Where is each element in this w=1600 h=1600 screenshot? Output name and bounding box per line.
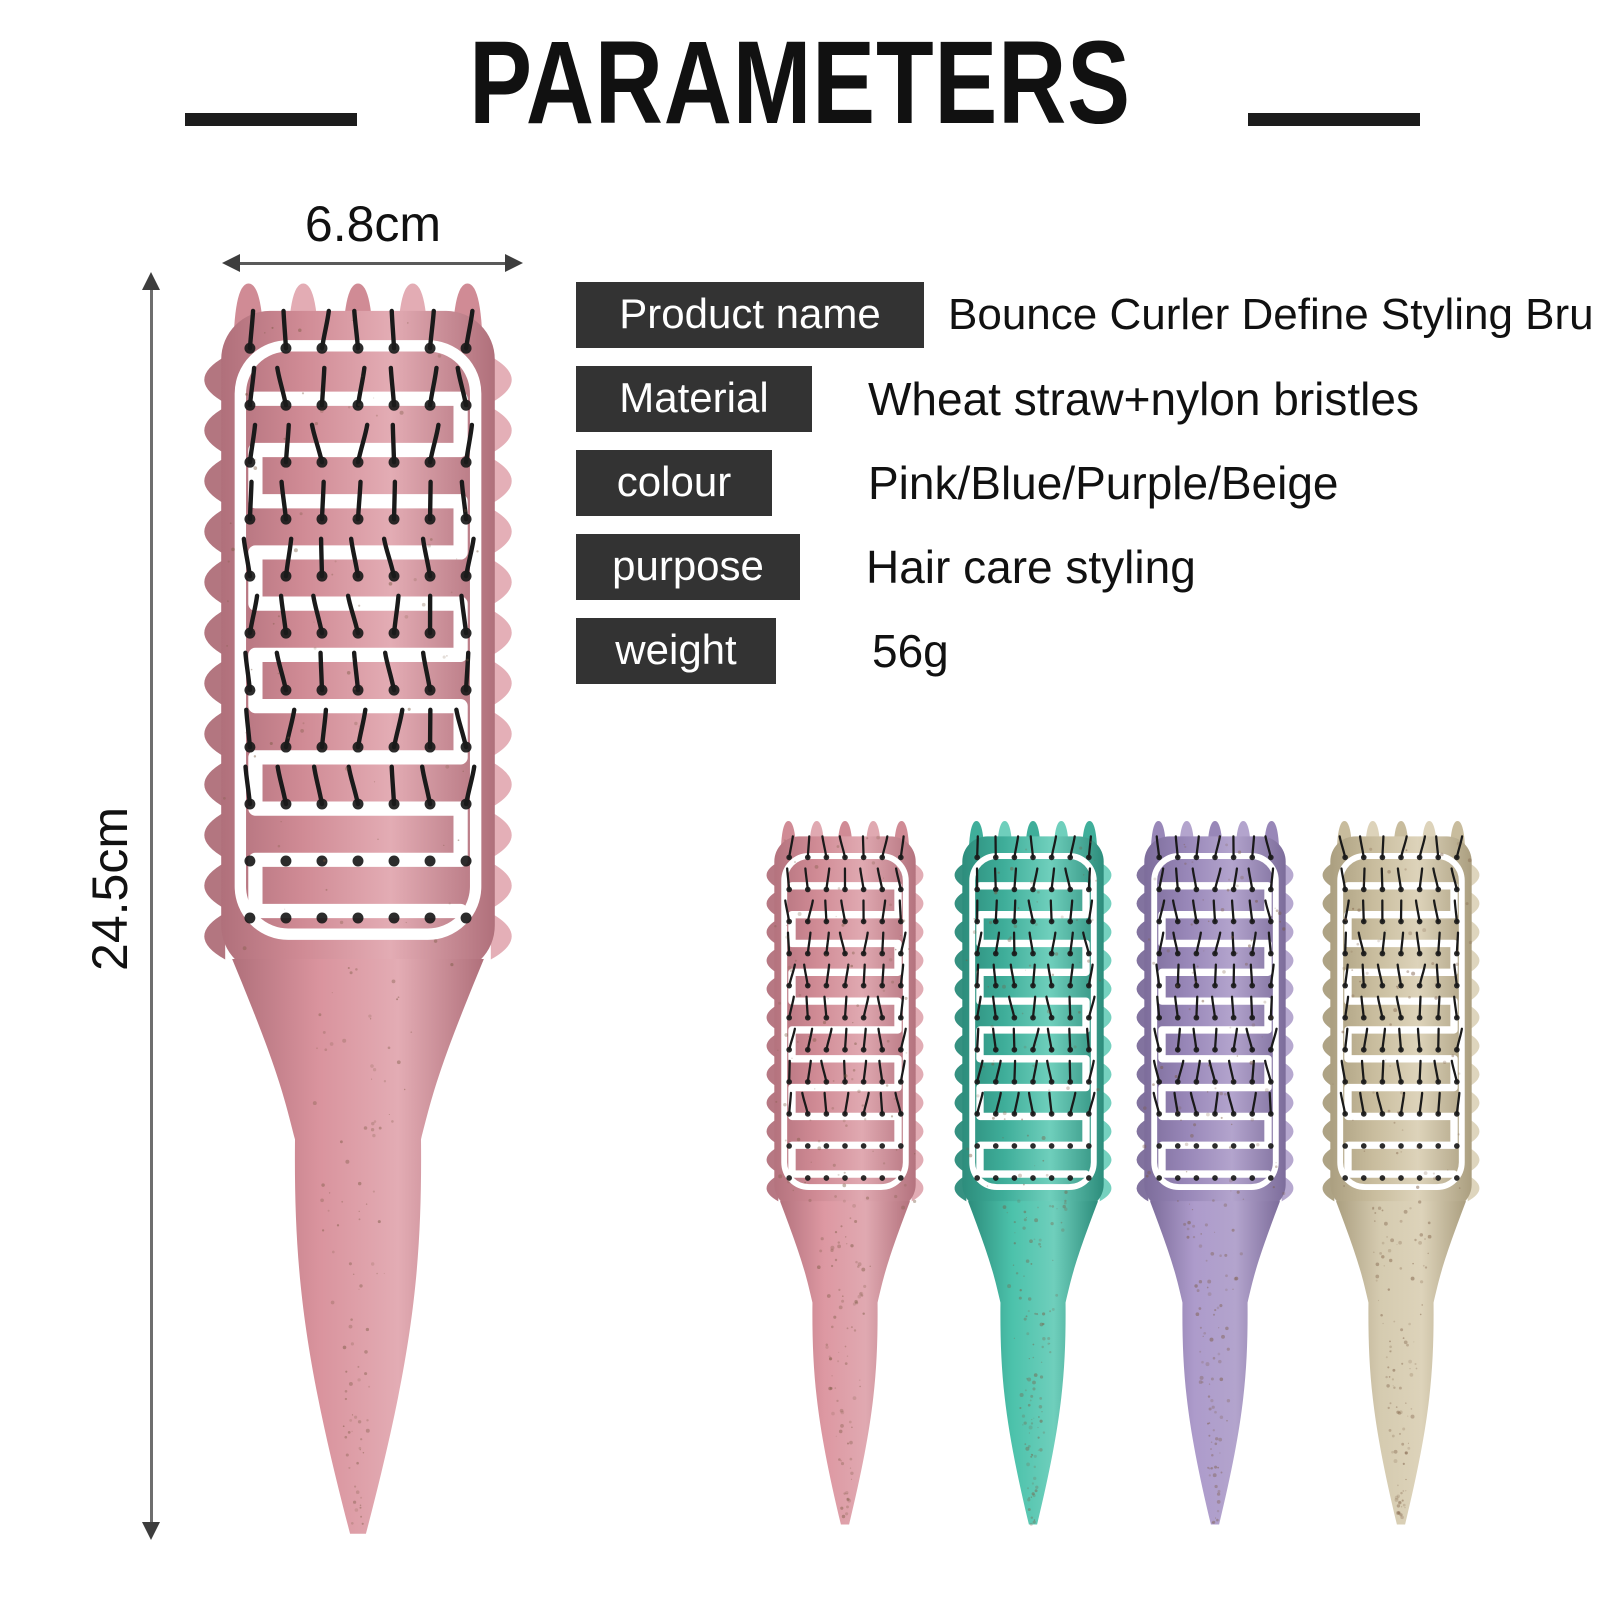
spec-row-material: MaterialWheat straw+nylon bristles: [576, 366, 1600, 436]
arrow-right-icon: [505, 254, 523, 272]
height-dimension-line: [150, 286, 153, 1528]
variant-brush-beige: [1308, 828, 1494, 1528]
spec-key-material: Material: [576, 366, 812, 432]
spec-row-weight: weight56g: [576, 618, 1600, 688]
arrow-left-icon: [222, 254, 240, 272]
spec-value-colour: Pink/Blue/Purple/Beige: [868, 453, 1339, 513]
spec-row-purpose: purposeHair care styling: [576, 534, 1600, 604]
spec-row-colour: colourPink/Blue/Purple/Beige: [576, 450, 1600, 520]
page-title-row: PARAMETERS: [0, 28, 1600, 138]
width-dimension-line: [236, 262, 508, 265]
arrow-down-icon: [142, 1522, 160, 1540]
variant-brush-pink: [752, 828, 938, 1528]
arrow-up-icon: [142, 272, 160, 290]
spec-row-clip: Product nameBounce Curler Define Styling…: [576, 282, 1600, 352]
spec-value-material: Wheat straw+nylon bristles: [868, 369, 1419, 429]
spec-key-colour: colour: [576, 450, 772, 516]
brush-illustration-blue: [940, 828, 1126, 1528]
main-product-image-pink-brush: [178, 296, 538, 1540]
width-dimension-label: 6.8cm: [228, 195, 518, 253]
spec-value-purpose: Hair care styling: [866, 537, 1196, 597]
brush-illustration-main: [178, 296, 538, 1540]
brush-illustration-purple: [1122, 828, 1308, 1528]
spec-value-weight: 56g: [872, 621, 949, 681]
brush-illustration-pink: [752, 828, 938, 1528]
variant-brush-blue: [940, 828, 1126, 1528]
spec-table: Product nameBounce Curler Define Styling…: [576, 282, 1600, 702]
spec-value-product-name: Bounce Curler Define Styling Bru: [948, 285, 1594, 345]
spec-key-product-name: Product name: [576, 282, 924, 348]
spec-key-purpose: purpose: [576, 534, 800, 600]
spec-key-weight: weight: [576, 618, 776, 684]
product-parameters-page: PARAMETERS 6.8cm 24.5cm Product nameBoun…: [0, 0, 1600, 1600]
height-dimension-label: 24.5cm: [81, 739, 139, 1039]
brush-illustration-beige: [1308, 828, 1494, 1528]
variant-brush-purple: [1122, 828, 1308, 1528]
page-title: PARAMETERS: [160, 28, 1440, 138]
spec-row-product-name: Product nameBounce Curler Define Styling…: [576, 282, 1600, 352]
